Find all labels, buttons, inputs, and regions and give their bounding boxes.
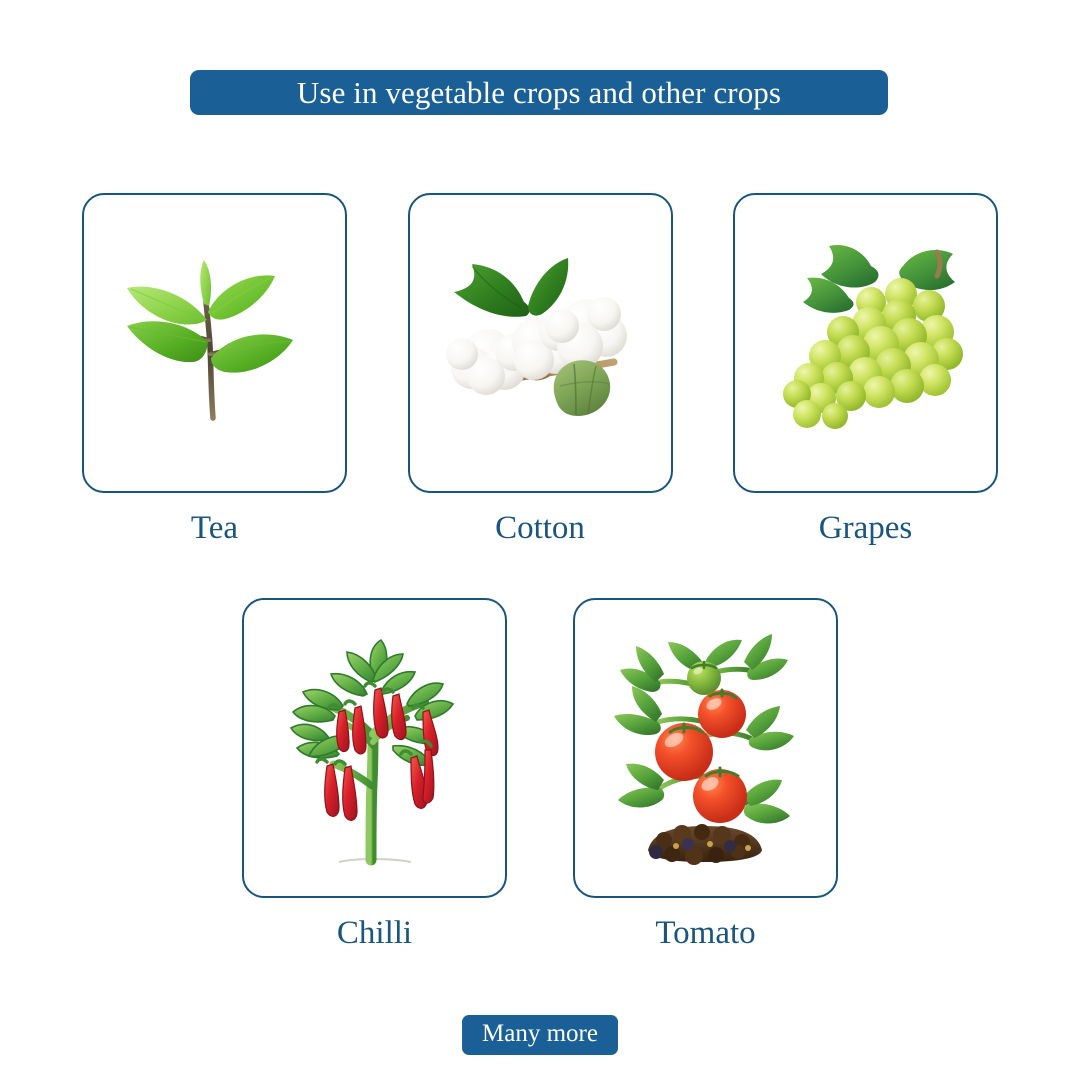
crop-cell-cotton[interactable]: Cotton (408, 193, 673, 546)
crop-cell-tea[interactable]: Tea (82, 193, 347, 546)
crop-usage-infographic: Use in vegetable crops and other crops (0, 0, 1080, 1080)
crop-cell-grapes[interactable]: Grapes (733, 193, 998, 546)
tomato-fruit-unripe (687, 661, 721, 695)
crop-card-grapes[interactable] (733, 193, 998, 493)
many-more-button[interactable]: Many more (462, 1015, 618, 1055)
crop-label-chilli: Chilli (337, 916, 412, 951)
crop-label-tea: Tea (191, 511, 238, 546)
crop-card-tomato[interactable] (573, 598, 838, 898)
crop-label-grapes: Grapes (819, 511, 912, 546)
chilli-plant-icon (267, 616, 482, 881)
tomato-plant-icon (598, 616, 813, 881)
tomato-fruit-ripe (698, 690, 746, 738)
crop-label-tomato: Tomato (655, 916, 755, 951)
soil-mound (648, 824, 762, 865)
crop-card-cotton[interactable] (408, 193, 673, 493)
tomato-fruit-ripe (655, 723, 713, 781)
crop-card-tea[interactable] (82, 193, 347, 493)
title-banner: Use in vegetable crops and other crops (190, 70, 888, 115)
green-cotton-boll (553, 360, 609, 416)
tea-leaf-sprig-icon (107, 236, 322, 451)
crop-label-cotton: Cotton (495, 511, 585, 546)
crop-cell-tomato[interactable]: Tomato (573, 598, 838, 951)
page-title: Use in vegetable crops and other crops (297, 77, 781, 108)
crop-row-1: Tea (82, 193, 998, 546)
crop-card-chilli[interactable] (242, 598, 507, 898)
crop-cell-chilli[interactable]: Chilli (242, 598, 507, 951)
green-grape-bunch-icon (751, 236, 981, 451)
cotton-boll-icon (428, 236, 653, 451)
crop-row-2: Chilli (242, 598, 838, 951)
